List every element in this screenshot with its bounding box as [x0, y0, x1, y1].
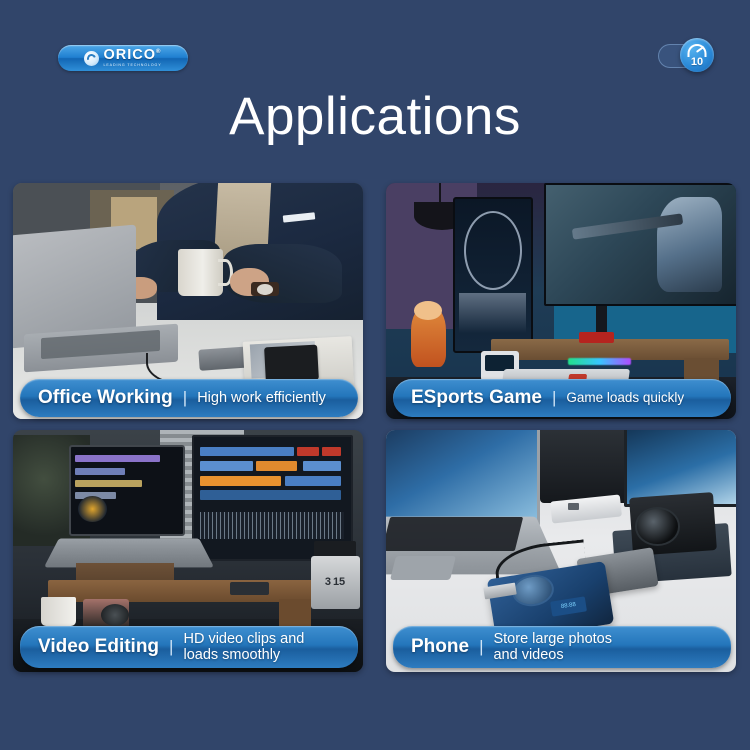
- caption-title: ESports Game: [411, 387, 542, 409]
- wallpaper-glow: [459, 293, 526, 332]
- figurine-head: [414, 301, 442, 320]
- laptop-screen: [386, 430, 540, 527]
- caption-subtitle: Store large photos and videos: [493, 631, 612, 663]
- caption-title: Office Working: [38, 387, 173, 409]
- caption-esports-game: ESports Game | Game loads quickly: [393, 379, 731, 417]
- caption-title: Phone: [411, 636, 469, 658]
- color-wheel-icon: [78, 496, 107, 522]
- caption-separator: |: [479, 637, 483, 657]
- caption-subtitle: Game loads quickly: [566, 390, 684, 405]
- audio-waveform: [200, 512, 344, 539]
- wallpaper-arc: [464, 211, 522, 290]
- laptop-trackpad: [390, 556, 456, 580]
- caption-office-working: Office Working | High work efficiently: [20, 379, 358, 417]
- orico-logo[interactable]: ORICO® LEADING TECHNOLOGY: [58, 45, 188, 71]
- flip-clock-left-digit: 3: [325, 576, 331, 588]
- gauge-arc-icon: [688, 44, 707, 57]
- flip-clock-right-digit: 15: [333, 576, 345, 588]
- speed-value: 10: [691, 57, 703, 68]
- wristwatch: [251, 282, 279, 296]
- laptop-screen: [69, 445, 185, 537]
- orico-swirl-icon: [84, 51, 99, 66]
- camera-lens: [635, 507, 681, 546]
- caption-subtitle: HD video clips and loads smoothly: [183, 631, 304, 663]
- coffee-mug: [41, 597, 76, 626]
- registered-mark: ®: [156, 49, 161, 55]
- logo-brand: ORICO®: [103, 48, 161, 63]
- caption-title: Video Editing: [38, 636, 159, 658]
- gaming-monitor: [544, 183, 737, 306]
- smartphone-on-book: [264, 344, 318, 382]
- flip-clock: 3 15: [311, 556, 360, 609]
- speedometer-icon: 10: [680, 38, 714, 72]
- game-console: [579, 332, 614, 344]
- ssd-dock: [230, 582, 269, 594]
- rgb-light-strip: [568, 358, 631, 365]
- game-character: [657, 197, 722, 292]
- power-strip-port: [568, 503, 579, 510]
- caption-subtitle: High work efficiently: [197, 390, 326, 406]
- logo-tagline: LEADING TECHNOLOGY: [103, 64, 161, 68]
- speed-badge: 10: [658, 38, 714, 72]
- caption-separator: |: [183, 388, 187, 408]
- caption-separator: |: [169, 637, 173, 657]
- caption-phone: Phone | Store large photos and videos: [393, 626, 731, 668]
- page-title: Applications: [0, 86, 750, 147]
- caption-video-editing: Video Editing | HD video clips and loads…: [20, 626, 358, 668]
- coffee-mug: [178, 249, 224, 296]
- laptop-keyboard: [386, 517, 523, 551]
- camera-lens: [101, 604, 129, 626]
- vertical-monitor: [453, 197, 534, 353]
- caption-separator: |: [552, 388, 556, 408]
